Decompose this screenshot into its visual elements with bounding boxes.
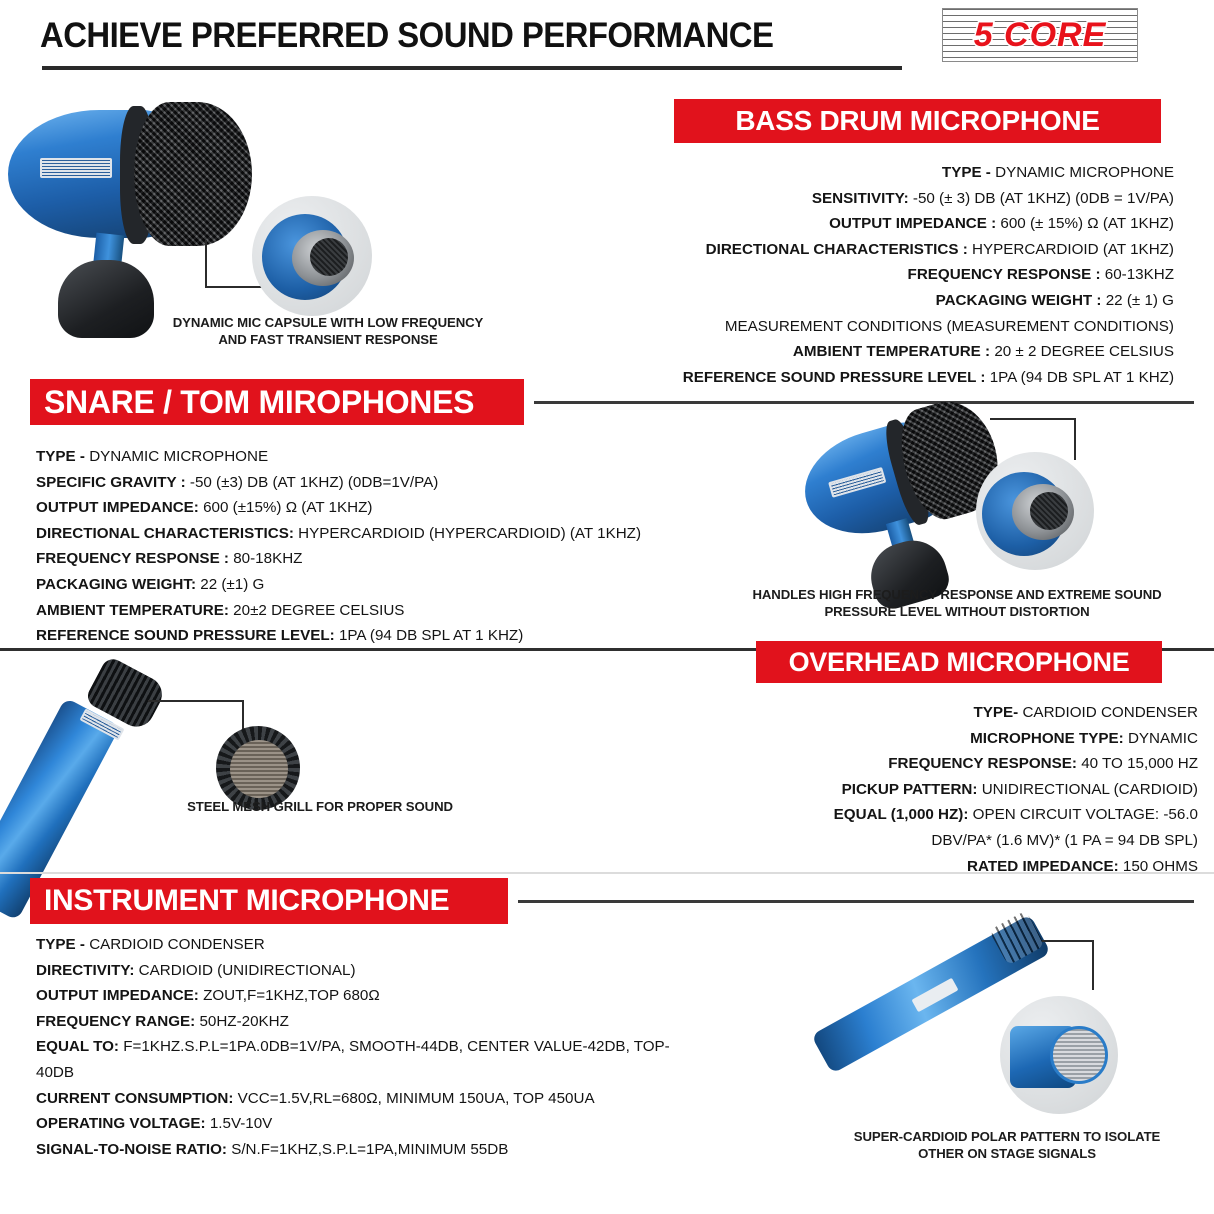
spec-value: HYPERCARDIOID (AT 1KHZ) bbox=[972, 241, 1174, 258]
spec-value: CARDIOID CONDENSER bbox=[1022, 704, 1198, 721]
spec-row: PACKAGING WEIGHT : 22 (± 1) G bbox=[401, 288, 1174, 314]
spec-value: 1PA (94 DB SPL AT 1 KHZ) bbox=[339, 627, 523, 644]
spec-key: SIGNAL-TO-NOISE RATIO: bbox=[36, 1141, 227, 1158]
spec-value: VCC=1.5V,RL=680Ω, MINIMUM 150UA, TOP 450… bbox=[238, 1090, 595, 1107]
overhead-lead-line-h bbox=[148, 700, 244, 702]
spec-key: SPECIFIC GRAVITY : bbox=[36, 474, 186, 491]
spec-row: TYPE - DYNAMIC MICROPHONE bbox=[401, 160, 1174, 186]
spec-value: 1.5V-10V bbox=[210, 1115, 273, 1132]
logo-text: 5 CORE bbox=[942, 8, 1138, 62]
spec-value: OPEN CIRCUIT VOLTAGE: -56.0 bbox=[973, 806, 1198, 823]
spec-row: DBV/PA* (1.6 MV)* (1 PA = 94 DB SPL) bbox=[700, 828, 1198, 854]
spec-value: CARDIOID (UNIDIRECTIONAL) bbox=[139, 962, 356, 979]
spec-value: S/N.F=1KHZ,S.P.L=1PA,MINIMUM 55DB bbox=[231, 1141, 508, 1158]
brand-plate-stripes bbox=[42, 160, 110, 176]
caption-line: PRESSURE LEVEL WITHOUT DISTORTION bbox=[700, 603, 1214, 620]
spec-list-snare-tom: TYPE - DYNAMIC MICROPHONE SPECIFIC GRAVI… bbox=[36, 444, 756, 649]
page-title: ACHIEVE PREFERRED SOUND PERFORMANCE bbox=[40, 16, 773, 56]
section-divider-2 bbox=[0, 872, 1214, 874]
snare-lead-line-v bbox=[1074, 418, 1076, 460]
spec-key: TYPE- bbox=[974, 704, 1019, 721]
spec-row: SPECIFIC GRAVITY : -50 (±3) DB (AT 1KHZ)… bbox=[36, 470, 756, 496]
spec-row: DIRECTIONAL CHARACTERISTICS : HYPERCARDI… bbox=[401, 237, 1174, 263]
spec-key: MEASUREMENT CONDITIONS (MEASUREMENT COND… bbox=[725, 318, 1174, 335]
spec-value: 80-18KHZ bbox=[233, 550, 302, 567]
spec-key: TYPE - bbox=[36, 936, 85, 953]
spec-row: OPERATING VOLTAGE: 1.5V-10V bbox=[36, 1111, 676, 1137]
spec-row: FREQUENCY RESPONSE : 60-13KHZ bbox=[401, 262, 1174, 288]
spec-row: REFERENCE SOUND PRESSURE LEVEL: 1PA (94 … bbox=[36, 623, 756, 649]
spec-row: MEASUREMENT CONDITIONS (MEASUREMENT COND… bbox=[401, 314, 1174, 340]
spec-key: AMBIENT TEMPERATURE: bbox=[36, 602, 229, 619]
title-underline bbox=[42, 66, 902, 70]
spec-value: -50 (±3) DB (AT 1KHZ) (0DB=1V/PA) bbox=[190, 474, 438, 491]
spec-key: FREQUENCY RANGE: bbox=[36, 1013, 195, 1030]
bass-lead-line-h bbox=[205, 286, 267, 288]
spec-row: OUTPUT IMPEDANCE : 600 (± 15%) Ω (AT 1KH… bbox=[401, 211, 1174, 237]
spec-value: 40 TO 15,000 HZ bbox=[1081, 755, 1198, 772]
caption-line: OTHER ON STAGE SIGNALS bbox=[800, 1145, 1214, 1162]
capsule-mesh-face bbox=[1050, 1026, 1108, 1084]
instrument-lead-line-h bbox=[1042, 940, 1094, 942]
spec-key: TYPE - bbox=[942, 164, 991, 181]
spec-value: 22 (± 1) G bbox=[1106, 292, 1174, 309]
spec-list-overhead: TYPE- CARDIOID CONDENSER MICROPHONE TYPE… bbox=[700, 700, 1198, 879]
spec-value: 22 (±1) G bbox=[200, 576, 264, 593]
spec-key: CURRENT CONSUMPTION: bbox=[36, 1090, 233, 1107]
capsule-diaphragm bbox=[310, 238, 348, 276]
spec-row: OUTPUT IMPEDANCE: ZOUT,F=1KHZ,TOP 680Ω bbox=[36, 983, 676, 1009]
spec-value: F=1KHZ.S.P.L=1PA.0DB=1V/PA, SMOOTH-44DB,… bbox=[36, 1038, 670, 1081]
spec-key: OUTPUT IMPEDANCE: bbox=[36, 987, 199, 1004]
snare-tom-caption: HANDLES HIGH FREQUENCY RESPONSE AND EXTR… bbox=[700, 586, 1214, 620]
brand-logo: 5 CORE bbox=[942, 8, 1138, 62]
banner-bass-drum: BASS DRUM MICROPHONE bbox=[674, 99, 1161, 143]
spec-row: SIGNAL-TO-NOISE RATIO: S/N.F=1KHZ,S.P.L=… bbox=[36, 1137, 676, 1163]
spec-key: TYPE - bbox=[36, 448, 85, 465]
infographic-page: ACHIEVE PREFERRED SOUND PERFORMANCE 5 CO… bbox=[0, 0, 1214, 1214]
snare-lead-line-h bbox=[990, 418, 1076, 420]
spec-row: RATED IMPEDANCE: 150 OHMS bbox=[700, 854, 1198, 880]
spec-value: DYNAMIC MICROPHONE bbox=[995, 164, 1174, 181]
spec-key: REFERENCE SOUND PRESSURE LEVEL: bbox=[36, 627, 335, 644]
spec-row: PICKUP PATTERN: UNIDIRECTIONAL (CARDIOID… bbox=[700, 777, 1198, 803]
caption-line: STEEL MESH GRILL FOR PROPER SOUND bbox=[110, 798, 530, 815]
spec-value: DYNAMIC bbox=[1128, 730, 1198, 747]
spec-key: MICROPHONE TYPE: bbox=[970, 730, 1124, 747]
spec-row: AMBIENT TEMPERATURE: 20±2 DEGREE CELSIUS bbox=[36, 598, 756, 624]
spec-row: OUTPUT IMPEDANCE: 600 (±15%) Ω (AT 1KHZ) bbox=[36, 495, 756, 521]
instrument-lead-line-v bbox=[1092, 940, 1094, 990]
spec-value: -50 (± 3) DB (AT 1KHZ) (0DB = 1V/PA) bbox=[913, 190, 1174, 207]
spec-value: ZOUT,F=1KHZ,TOP 680Ω bbox=[203, 987, 380, 1004]
spec-row: SENSITIVITY: -50 (± 3) DB (AT 1KHZ) (0DB… bbox=[401, 186, 1174, 212]
spec-key: EQUAL TO: bbox=[36, 1038, 119, 1055]
mic-grille bbox=[134, 102, 252, 246]
spec-value: 600 (±15%) Ω (AT 1KHZ) bbox=[203, 499, 372, 516]
banner-overhead: OVERHEAD MICROPHONE bbox=[756, 641, 1162, 683]
spec-value: DBV/PA* (1.6 MV)* (1 PA = 94 DB SPL) bbox=[931, 832, 1198, 849]
instrument-callout-circle bbox=[1000, 996, 1118, 1114]
spec-key: DIRECTIVITY: bbox=[36, 962, 134, 979]
bass-lead-line-v bbox=[205, 240, 207, 288]
spec-row: DIRECTIONAL CHARACTERISTICS: HYPERCARDIO… bbox=[36, 521, 756, 547]
spec-row: FREQUENCY RANGE: 50HZ-20KHZ bbox=[36, 1009, 676, 1035]
spec-key: AMBIENT TEMPERATURE : bbox=[793, 343, 990, 360]
spec-key: PACKAGING WEIGHT: bbox=[36, 576, 196, 593]
spec-row: PACKAGING WEIGHT: 22 (±1) G bbox=[36, 572, 756, 598]
caption-line: HANDLES HIGH FREQUENCY RESPONSE AND EXTR… bbox=[700, 586, 1214, 603]
spec-value: UNIDIRECTIONAL (CARDIOID) bbox=[982, 781, 1198, 798]
spec-key: DIRECTIONAL CHARACTERISTICS : bbox=[706, 241, 968, 258]
spec-row: FREQUENCY RESPONSE: 40 TO 15,000 HZ bbox=[700, 751, 1198, 777]
spec-value: HYPERCARDIOID (HYPERCARDIOID) (AT 1KHZ) bbox=[298, 525, 641, 542]
spec-key: SENSITIVITY: bbox=[812, 190, 909, 207]
spec-key: PACKAGING WEIGHT : bbox=[936, 292, 1102, 309]
snare-callout-circle bbox=[976, 452, 1094, 570]
instrument-caption: SUPER-CARDIOID POLAR PATTERN TO ISOLATE … bbox=[800, 1128, 1214, 1162]
spec-key: FREQUENCY RESPONSE : bbox=[908, 266, 1101, 283]
banner-instrument: INSTRUMENT MICROPHONE bbox=[30, 878, 508, 924]
spec-row: MICROPHONE TYPE: DYNAMIC bbox=[700, 726, 1198, 752]
spec-row: TYPE- CARDIOID CONDENSER bbox=[700, 700, 1198, 726]
spec-row: TYPE - CARDIOID CONDENSER bbox=[36, 932, 676, 958]
spec-key: DIRECTIONAL CHARACTERISTICS: bbox=[36, 525, 294, 542]
grille-mesh bbox=[230, 740, 288, 798]
spec-value: 20±2 DEGREE CELSIUS bbox=[233, 602, 404, 619]
spec-value: 60-13KHZ bbox=[1105, 266, 1174, 283]
caption-line: SUPER-CARDIOID POLAR PATTERN TO ISOLATE bbox=[800, 1128, 1214, 1145]
banner-line-instrument bbox=[518, 900, 1194, 903]
spec-key: FREQUENCY RESPONSE: bbox=[888, 755, 1077, 772]
spec-key: OPERATING VOLTAGE: bbox=[36, 1115, 206, 1132]
spec-key: FREQUENCY RESPONSE : bbox=[36, 550, 229, 567]
spec-row: EQUAL (1,000 HZ): OPEN CIRCUIT VOLTAGE: … bbox=[700, 802, 1198, 828]
banner-snare-tom: SNARE / TOM MIROPHONES bbox=[30, 379, 524, 425]
spec-value: CARDIOID CONDENSER bbox=[89, 936, 265, 953]
page-header: ACHIEVE PREFERRED SOUND PERFORMANCE 5 CO… bbox=[0, 0, 1214, 80]
spec-value: 600 (± 15%) Ω (AT 1KHZ) bbox=[1000, 215, 1174, 232]
body-brand-plate bbox=[40, 158, 112, 178]
overhead-caption: STEEL MESH GRILL FOR PROPER SOUND bbox=[110, 798, 530, 815]
spec-row: EQUAL TO: F=1KHZ.S.P.L=1PA.0DB=1V/PA, SM… bbox=[36, 1034, 676, 1085]
spec-key: OUTPUT IMPEDANCE : bbox=[829, 215, 996, 232]
spec-row: FREQUENCY RESPONSE : 80-18KHZ bbox=[36, 546, 756, 572]
spec-key: EQUAL (1,000 HZ): bbox=[834, 806, 969, 823]
spec-value: 50HZ-20KHZ bbox=[199, 1013, 288, 1030]
spec-key: PICKUP PATTERN: bbox=[842, 781, 978, 798]
spec-row: CURRENT CONSUMPTION: VCC=1.5V,RL=680Ω, M… bbox=[36, 1086, 676, 1112]
capsule-diaphragm bbox=[1030, 492, 1068, 530]
spec-value: DYNAMIC MICROPHONE bbox=[89, 448, 268, 465]
spec-list-instrument: TYPE - CARDIOID CONDENSER DIRECTIVITY: C… bbox=[36, 932, 676, 1162]
spec-key: OUTPUT IMPEDANCE: bbox=[36, 499, 199, 516]
spec-row: DIRECTIVITY: CARDIOID (UNIDIRECTIONAL) bbox=[36, 958, 676, 984]
spec-row: TYPE - DYNAMIC MICROPHONE bbox=[36, 444, 756, 470]
bass-callout-circle bbox=[252, 196, 372, 316]
overhead-shot bbox=[56, 660, 356, 860]
